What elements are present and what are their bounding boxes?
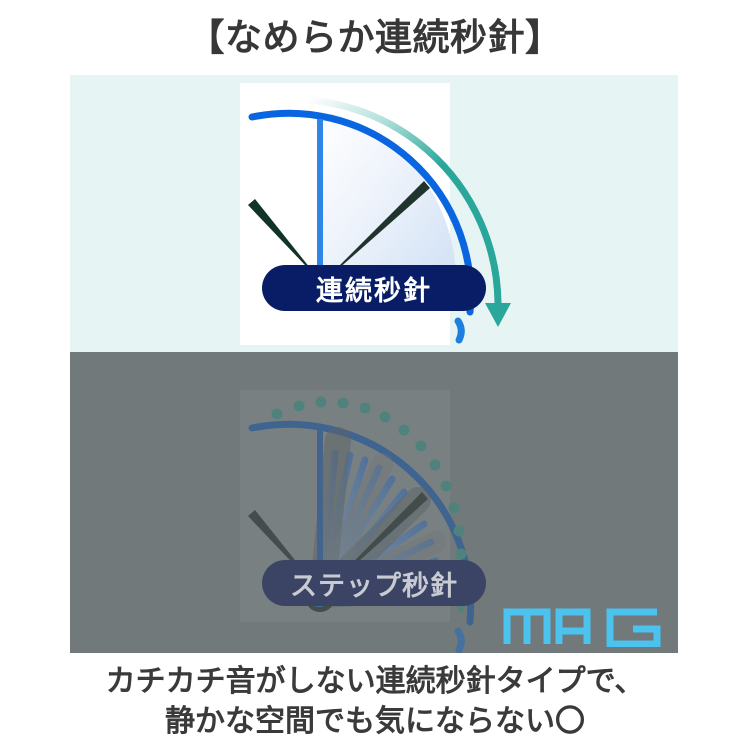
panel-continuous-second-hand: 連続秒針 xyxy=(70,75,678,352)
page-root: 【なめらか連続秒針】 xyxy=(0,0,750,750)
panel-step-second-hand: ステップ秒針 xyxy=(70,352,678,653)
sweep-arrowhead-icon xyxy=(485,303,511,327)
caption-line-2: 静かな空間でも気にならない〇 xyxy=(0,702,750,742)
dial-quadrant xyxy=(320,108,456,287)
caption-line-1: カチカチ音がしない連続秒針タイプで、 xyxy=(0,662,750,702)
badge-step-second-hand: ステップ秒針 xyxy=(262,560,486,606)
badge-continuous-label: 連続秒針 xyxy=(316,269,432,308)
badge-step-label: ステップ秒針 xyxy=(290,564,458,603)
badge-continuous-second-hand: 連続秒針 xyxy=(262,265,486,311)
arc-tail xyxy=(458,321,461,340)
mag-logo xyxy=(502,601,662,647)
caption: カチカチ音がしない連続秒針タイプで、 静かな空間でも気にならない〇 xyxy=(0,662,750,742)
step-arc-tail xyxy=(458,631,461,650)
page-title: 【なめらか連続秒針】 xyxy=(0,18,750,59)
